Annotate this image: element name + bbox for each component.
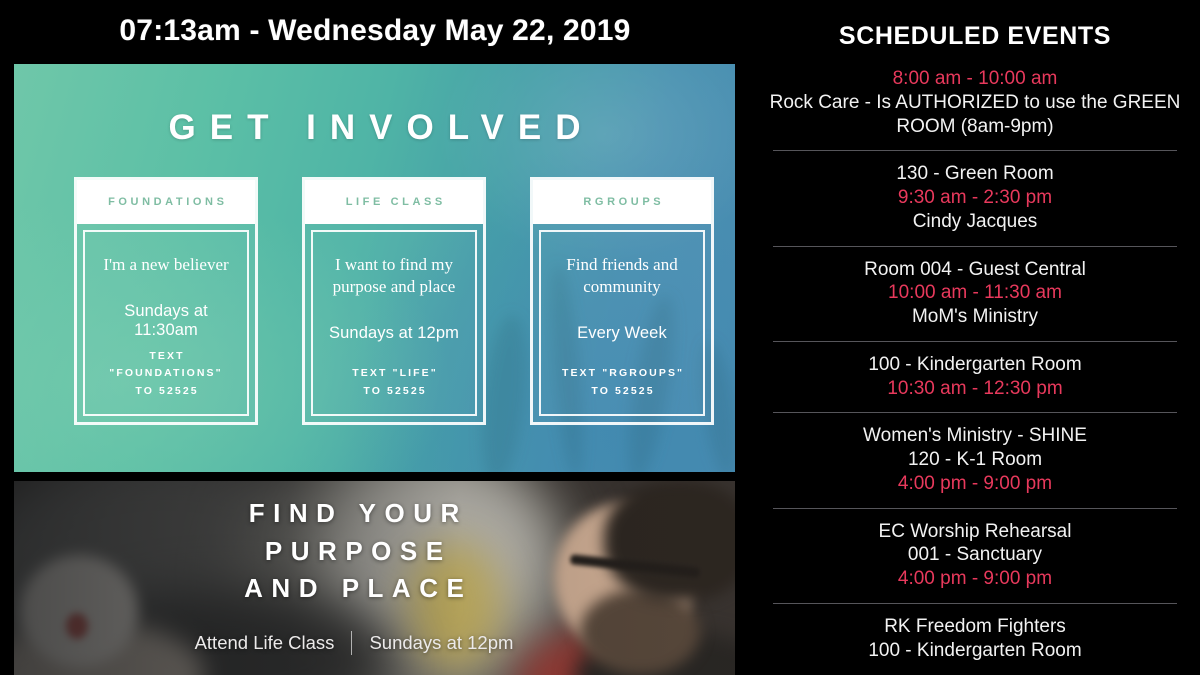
event-divider <box>773 150 1177 151</box>
scheduled-events-panel: SCHEDULED EVENTS 8:00 am - 10:00 amRock … <box>750 0 1200 675</box>
card-headline: Find friends and community <box>550 254 694 298</box>
event-item[interactable]: Women's Ministry - SHINE120 - K-1 Room4:… <box>760 420 1190 500</box>
card-time: Sundays at 11:30am <box>94 302 238 340</box>
event-item[interactable]: 100 - Kindergarten Room10:30 am - 12:30 … <box>760 349 1190 406</box>
card-cta: TEXT "RGROUPS" TO 52525 <box>560 365 684 400</box>
banner-headline-line1: FIND YOUR <box>14 495 694 533</box>
caption-divider <box>351 631 352 655</box>
card-header-rgroups: RGROUPS <box>533 180 711 224</box>
card-header-foundations: FOUNDATIONS <box>77 180 255 224</box>
clock-datetime-text: 07:13am - Wednesday May 22, 2019 <box>119 14 630 48</box>
event-detail: EC Worship Rehearsal <box>760 520 1190 544</box>
involvement-card-row: FOUNDATIONS I'm a new believer Sundays a… <box>74 177 714 432</box>
slide-get-involved: GET INVOLVED FOUNDATIONS I'm a new belie… <box>14 64 735 472</box>
card-header-life-class: LIFE CLASS <box>305 180 483 224</box>
clock-header: 07:13am - Wednesday May 22, 2019 <box>0 6 750 56</box>
event-time: 4:00 pm - 9:00 pm <box>760 472 1190 496</box>
event-item[interactable]: Room 004 - Guest Central10:00 am - 11:30… <box>760 254 1190 334</box>
banner-headline: FIND YOUR PURPOSE AND PLACE <box>14 495 694 608</box>
card-time: Every Week <box>577 324 667 343</box>
event-time: 8:00 am - 10:00 am <box>760 67 1190 91</box>
event-detail: Women's Ministry - SHINE <box>760 424 1190 448</box>
event-detail: RK Freedom Fighters <box>760 615 1190 639</box>
digital-signage-screen: 07:13am - Wednesday May 22, 2019 GET INV… <box>0 0 1200 675</box>
card-time: Sundays at 12pm <box>329 324 459 343</box>
card-cta-line2: TO 52525 <box>94 383 238 400</box>
card-header-label: FOUNDATIONS <box>104 196 227 208</box>
involvement-card-foundations: FOUNDATIONS I'm a new believer Sundays a… <box>74 177 258 425</box>
card-cta: TEXT "LIFE" TO 52525 <box>350 365 438 400</box>
involvement-card-rgroups: RGROUPS Find friends and community Every… <box>530 177 714 425</box>
event-divider <box>773 508 1177 509</box>
card-header-label: RGROUPS <box>580 196 664 208</box>
card-headline: I want to find my purpose and place <box>322 254 466 298</box>
event-detail: 130 - Green Room <box>760 162 1190 186</box>
card-cta: TEXT "FOUNDATIONS" TO 52525 <box>94 348 238 400</box>
card-body-rgroups: Find friends and community Every Week TE… <box>539 230 705 416</box>
event-time: 4:00 pm - 9:00 pm <box>760 567 1190 591</box>
event-detail: 120 - K-1 Room <box>760 448 1190 472</box>
card-body-life-class: I want to find my purpose and place Sund… <box>311 230 477 416</box>
card-headline: I'm a new believer <box>103 254 228 276</box>
banner-headline-line3: AND PLACE <box>14 570 694 608</box>
event-detail: MoM's Ministry <box>760 305 1190 329</box>
involvement-card-life-class: LIFE CLASS I want to find my purpose and… <box>302 177 486 425</box>
event-divider <box>773 603 1177 604</box>
banner-caption: Attend Life Class Sundays at 12pm <box>14 631 694 655</box>
banner-caption-left: Attend Life Class <box>195 632 335 654</box>
card-cta-line1: TEXT "LIFE" <box>350 365 438 382</box>
event-detail: 100 - Kindergarten Room <box>760 353 1190 377</box>
event-divider <box>773 341 1177 342</box>
card-header-label: LIFE CLASS <box>342 196 446 208</box>
event-item[interactable]: RK Freedom Fighters100 - Kindergarten Ro… <box>760 611 1190 668</box>
scheduled-events-list: 8:00 am - 10:00 amRock Care - Is AUTHORI… <box>760 63 1190 667</box>
card-cta-line1: TEXT "FOUNDATIONS" <box>94 348 238 383</box>
event-detail: Room 004 - Guest Central <box>760 258 1190 282</box>
event-divider <box>773 246 1177 247</box>
event-time: 10:00 am - 11:30 am <box>760 281 1190 305</box>
card-cta-line2: TO 52525 <box>560 383 684 400</box>
event-time: 9:30 am - 2:30 pm <box>760 186 1190 210</box>
left-column: 07:13am - Wednesday May 22, 2019 GET INV… <box>0 0 750 675</box>
card-body-foundations: I'm a new believer Sundays at 11:30am TE… <box>83 230 249 416</box>
event-time: 10:30 am - 12:30 pm <box>760 377 1190 401</box>
event-detail: Cindy Jacques <box>760 210 1190 234</box>
event-item[interactable]: 8:00 am - 10:00 amRock Care - Is AUTHORI… <box>760 63 1190 143</box>
event-detail: Rock Care - Is AUTHORIZED to use the GRE… <box>760 91 1190 115</box>
banner-find-your-purpose: FIND YOUR PURPOSE AND PLACE Attend Life … <box>14 481 735 675</box>
card-cta-line1: TEXT "RGROUPS" <box>560 365 684 382</box>
event-detail: ROOM (8am-9pm) <box>760 115 1190 139</box>
event-detail: 100 - Kindergarten Room <box>760 639 1190 663</box>
event-divider <box>773 412 1177 413</box>
event-item[interactable]: 130 - Green Room9:30 am - 2:30 pmCindy J… <box>760 158 1190 238</box>
event-item[interactable]: EC Worship Rehearsal001 - Sanctuary4:00 … <box>760 516 1190 596</box>
banner-caption-right: Sundays at 12pm <box>369 632 513 654</box>
card-cta-line2: TO 52525 <box>350 383 438 400</box>
banner-headline-line2: PURPOSE <box>14 533 694 571</box>
event-detail: 001 - Sanctuary <box>760 543 1190 567</box>
slide-title: GET INVOLVED <box>14 108 735 148</box>
scheduled-events-title: SCHEDULED EVENTS <box>760 0 1190 51</box>
